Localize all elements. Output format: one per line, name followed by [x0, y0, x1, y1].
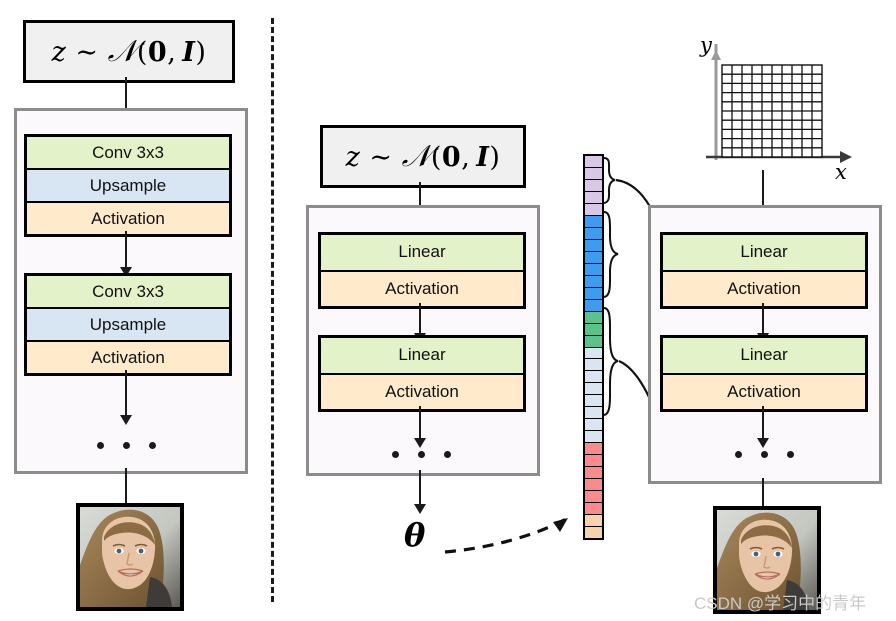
middle-latent-box: z ∼ 𝒩(0, I) — [320, 125, 526, 188]
strip-cell — [585, 491, 602, 503]
latent-formula: z ∼ 𝒩(0, I) — [52, 34, 207, 69]
coordinate-grid-plot — [700, 38, 860, 183]
theta-parameter-symbol: θ — [404, 516, 425, 554]
middle-block-1: Linear Activation — [318, 232, 526, 309]
brace-middle — [604, 212, 618, 297]
right-block1-to-block2-arrow — [762, 303, 764, 334]
brace-lower — [604, 308, 618, 415]
left-block-2-row-upsample: Upsample — [27, 309, 229, 340]
middle-panel-to-theta-arrow — [419, 470, 421, 505]
right-block2-to-dots-arrow — [762, 406, 764, 439]
left-output-photo — [76, 503, 184, 611]
left-ellipsis — [80, 436, 172, 454]
strip-cell — [585, 515, 602, 527]
right-block-2: Linear Activation — [660, 335, 868, 412]
right-block-1-row-linear: Linear — [663, 235, 865, 270]
left-block-2: Conv 3x3 Upsample Activation — [24, 273, 232, 376]
brace-upper — [604, 158, 615, 203]
middle-block-2-row-linear: Linear — [321, 338, 523, 373]
left-block-1: Conv 3x3 Upsample Activation — [24, 134, 232, 237]
left-panel-to-photo-arrow — [125, 468, 127, 506]
right-panel-to-photo-arrow — [762, 478, 764, 508]
left-block2-to-dots-arrow — [125, 370, 127, 416]
middle-block-1-row-linear: Linear — [321, 235, 523, 270]
left-block-1-row-upsample: Upsample — [27, 170, 229, 201]
left-block-1-row-conv: Conv 3x3 — [27, 137, 229, 168]
left-block-2-row-conv: Conv 3x3 — [27, 276, 229, 307]
theta-to-strip-arrow — [440, 500, 590, 560]
right-block-2-row-linear: Linear — [663, 338, 865, 373]
strip-cell — [585, 503, 602, 515]
latent-formula-middle: z ∼ 𝒩(0, I) — [346, 139, 501, 174]
middle-ellipsis — [375, 445, 467, 463]
x-axis-arrowhead — [840, 151, 852, 163]
right-ellipsis — [718, 445, 810, 463]
face-image-left — [80, 507, 180, 607]
y-axis-arrowhead — [711, 50, 721, 60]
middle-block-1-row-activation: Activation — [321, 272, 523, 307]
watermark-text: CSDN @学习中的青年 — [694, 589, 866, 614]
middle-block-2-row-activation: Activation — [321, 375, 523, 410]
left-block-1-row-activation: Activation — [27, 203, 229, 234]
diagram-canvas: z ∼ 𝒩(0, I) Conv 3x3 Upsample Activation… — [0, 0, 896, 621]
right-block-1-row-activation: Activation — [663, 272, 865, 307]
left-latent-box: z ∼ 𝒩(0, I) — [23, 20, 235, 83]
middle-block1-to-block2-arrow — [419, 303, 421, 334]
right-block-2-row-activation: Activation — [663, 375, 865, 410]
grid-cells — [722, 65, 822, 157]
section-divider — [271, 18, 274, 602]
left-block-2-row-activation: Activation — [27, 342, 229, 373]
right-block-1: Linear Activation — [660, 232, 868, 309]
middle-block-2: Linear Activation — [318, 335, 526, 412]
strip-cell — [585, 527, 602, 538]
middle-block2-to-dots-arrow — [419, 406, 421, 439]
left-block1-to-block2-arrow — [125, 231, 127, 268]
strip-cell — [585, 479, 602, 491]
